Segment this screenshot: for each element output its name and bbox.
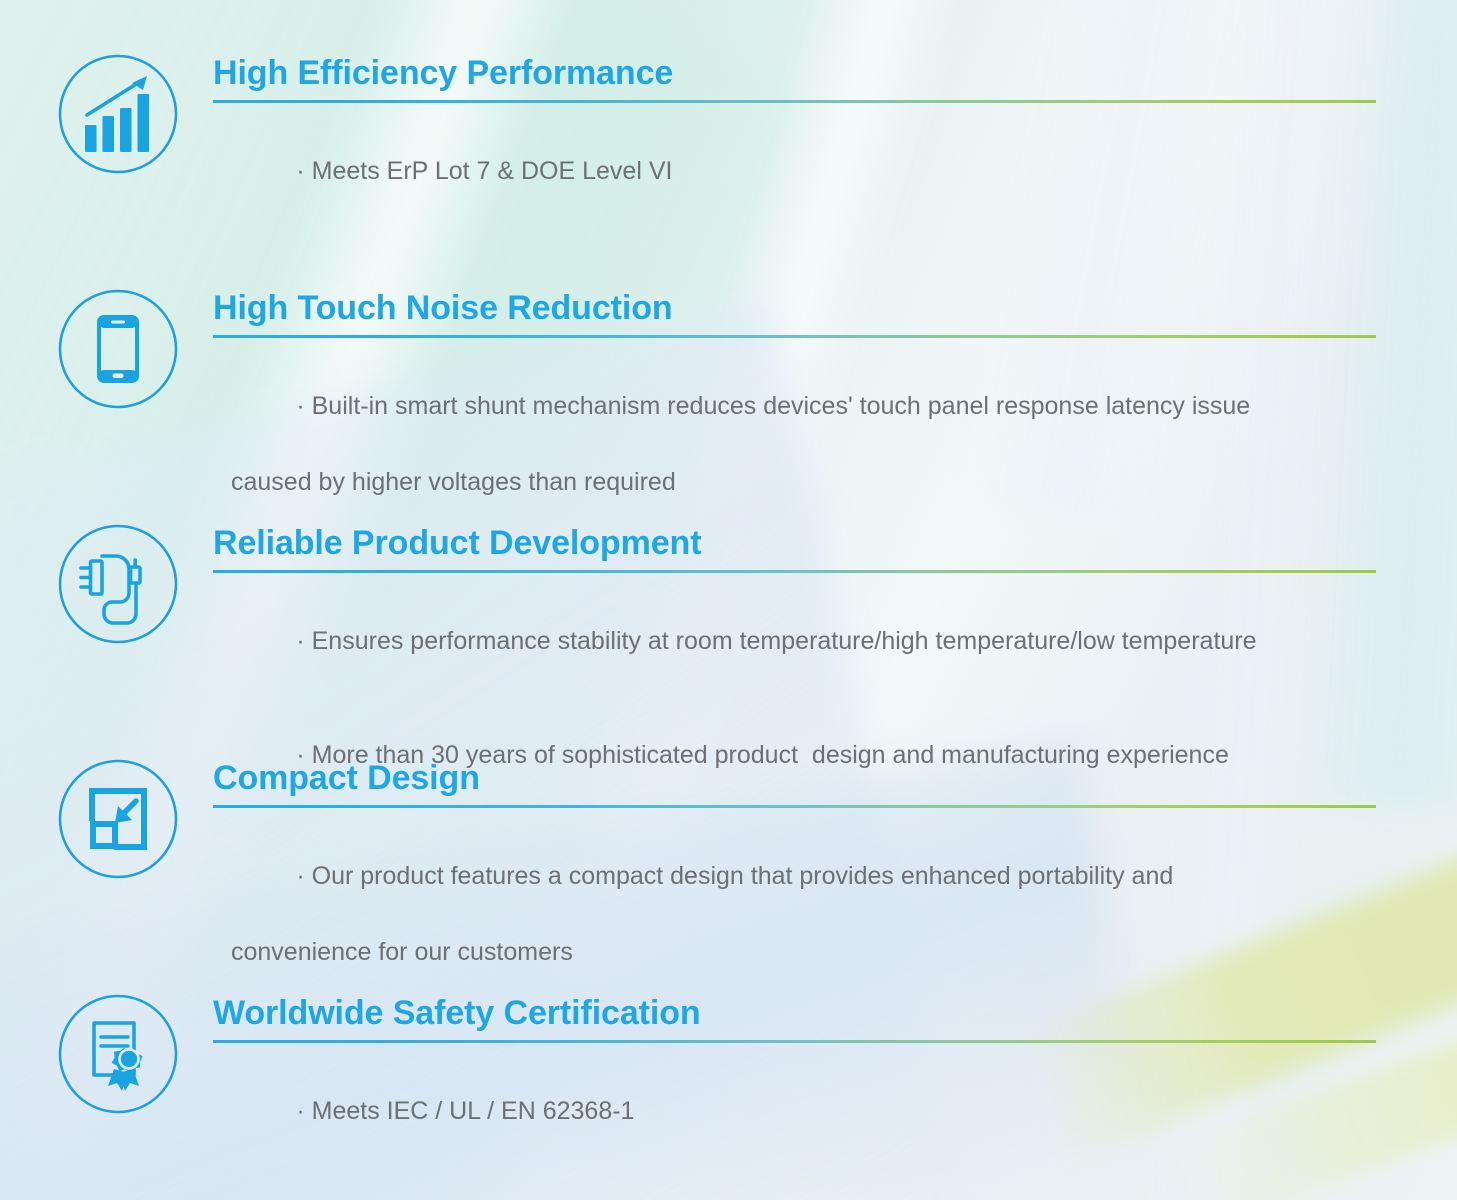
feature-line-text: Ensures performance stability at room te…	[305, 627, 1257, 655]
certificate-icon	[57, 993, 179, 1115]
feature-line-continuation: caused by higher voltages than required	[213, 463, 1376, 501]
feature-divider	[213, 805, 1376, 808]
feature-line: · Ensures performance stability at room …	[213, 584, 1376, 698]
feature-lines: · Meets ErP Lot 7 & DOE Level VI	[213, 114, 1376, 228]
feature-line-text: Built-in smart shunt mechanism reduces d…	[305, 392, 1251, 420]
bullet-dot: ·	[296, 392, 304, 420]
feature-title: High Efficiency Performance	[213, 53, 1376, 93]
feature-highlights-page: High Efficiency Performance · Meets ErP …	[0, 0, 1457, 1200]
feature-title: Reliable Product Development	[213, 523, 1376, 563]
feature-line: · Meets IEC / UL / EN 62368-1	[213, 1054, 1376, 1168]
power-adapter-icon	[57, 523, 179, 645]
feature-title: Compact Design	[213, 758, 1376, 798]
compact-resize-icon	[57, 758, 179, 880]
feature-line-text: Our product features a compact design th…	[305, 862, 1174, 890]
feature-line-continuation: convenience for our customers	[213, 933, 1376, 971]
bullet-dot: ·	[296, 1097, 304, 1125]
feature-divider	[213, 570, 1376, 573]
feature-body: Worldwide Safety Certification · Meets I…	[213, 993, 1376, 1168]
feature-line: · Meets ErP Lot 7 & DOE Level VI	[213, 114, 1376, 228]
feature-body: High Efficiency Performance · Meets ErP …	[213, 53, 1376, 228]
smartphone-icon	[57, 288, 179, 410]
growth-chart-icon	[57, 53, 179, 175]
feature-line-text: Meets ErP Lot 7 & DOE Level VI	[305, 157, 673, 185]
feature-divider	[213, 100, 1376, 103]
feature-title: Worldwide Safety Certification	[213, 993, 1376, 1033]
feature-divider	[213, 1040, 1376, 1043]
bullet-dot: ·	[296, 157, 304, 185]
bullet-dot: ·	[296, 627, 304, 655]
feature-divider	[213, 335, 1376, 338]
feature-title: High Touch Noise Reduction	[213, 288, 1376, 328]
feature-lines: · Meets IEC / UL / EN 62368-1	[213, 1054, 1376, 1168]
bullet-dot: ·	[296, 862, 304, 890]
feature-line-text: Meets IEC / UL / EN 62368-1	[305, 1097, 635, 1125]
